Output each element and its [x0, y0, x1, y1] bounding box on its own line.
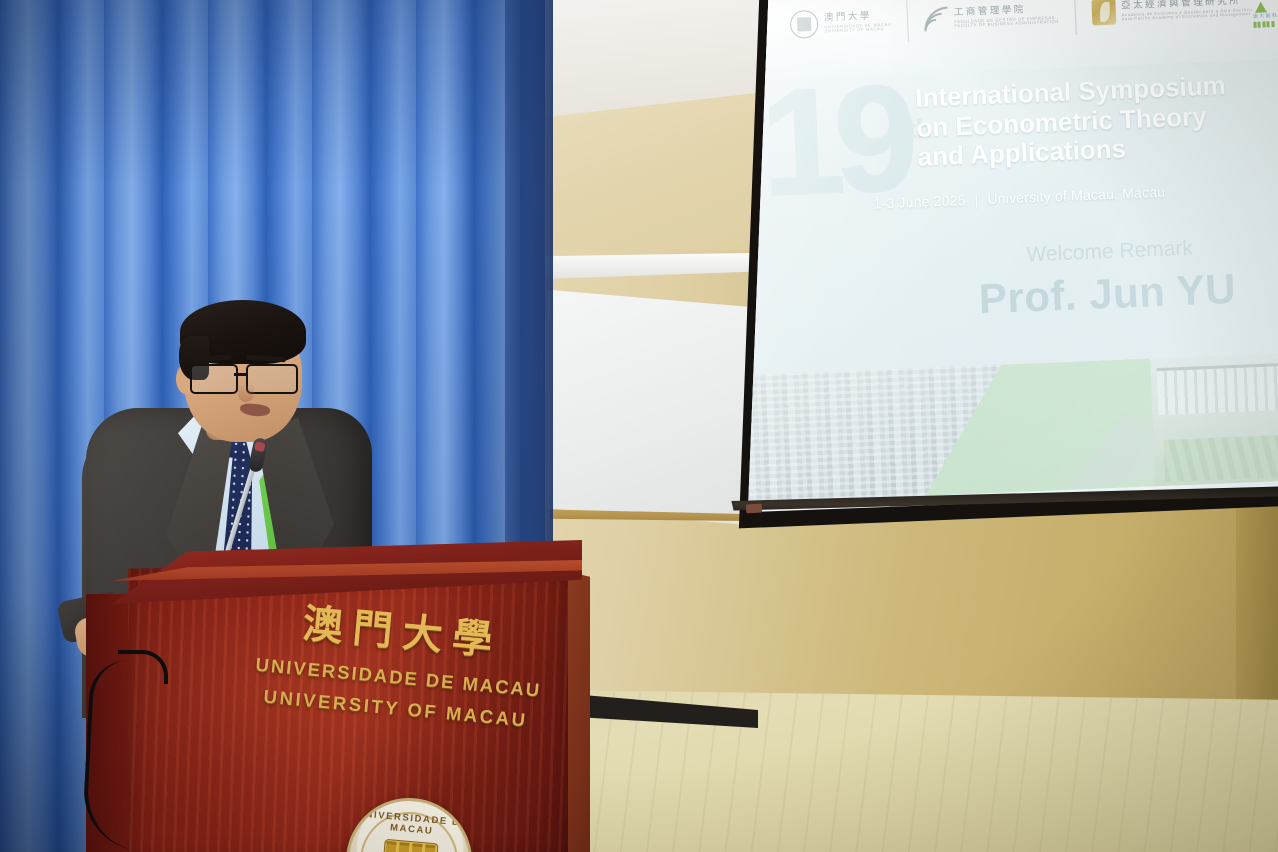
apaem-leaf-icon [1091, 0, 1116, 26]
umtec-chevron-icon [1254, 1, 1266, 12]
slide-subtitle: 1-3 June 2025|University of Macau, Macau [873, 178, 1278, 212]
umtec-logo: UMTec 澳大創科 [1251, 0, 1278, 28]
faculty-of-business-administration-logo: 工商管理學院 FACULDADE DE GESTÃO DE EMPRESAS F… [924, 2, 1060, 32]
speaker-name: Prof. Jun YU [907, 262, 1278, 326]
screen-surface: 澳門大學 UNIVERSIDADE DE MACAU UNIVERSITY OF… [726, 0, 1278, 548]
presentation-slide: 澳門大學 UNIVERSIDADE DE MACAU UNIVERSITY OF… [726, 0, 1278, 504]
slide-date: 1-3 June 2025 [873, 192, 966, 212]
um-logo-en: UNIVERSITY OF MACAU [824, 27, 891, 34]
umtec-cn: 澳大創科 [1253, 13, 1278, 20]
nose [238, 384, 254, 402]
logo-divider [906, 0, 909, 42]
slide-photo-band [730, 351, 1278, 503]
photo-scene: 澳門大學 UNIVERSIDADE DE MACAU UNIVERSITY OF… [0, 0, 1278, 852]
university-of-macau-logo: 澳門大學 UNIVERSIDADE DE MACAU UNIVERSITY OF… [790, 7, 892, 39]
screen-bar-knob [746, 504, 762, 514]
black-power-cable [81, 658, 165, 852]
projection-screen: 澳門大學 UNIVERSIDADE DE MACAU UNIVERSITY OF… [726, 0, 1278, 548]
um-crest-icon [790, 10, 819, 39]
logo-divider-2 [1074, 0, 1077, 35]
glasses-lens-left [190, 364, 238, 394]
slide-venue: University of Macau, Macau [987, 184, 1165, 207]
slide-title: International Symposium on Econometric T… [915, 68, 1278, 172]
slide-separator: | [974, 191, 978, 207]
campus-building-photo [1150, 351, 1278, 486]
asia-pacific-academy-logo: 亞太經濟與管理研究所 Academia de Economia e Gestão… [1091, 0, 1253, 26]
whiteboard [547, 285, 747, 525]
umtec-bars-icon [1253, 20, 1278, 28]
screen-projection-area: 澳門大學 UNIVERSIDADE DE MACAU UNIVERSITY OF… [726, 0, 1278, 504]
fba-fan-icon [924, 6, 949, 31]
